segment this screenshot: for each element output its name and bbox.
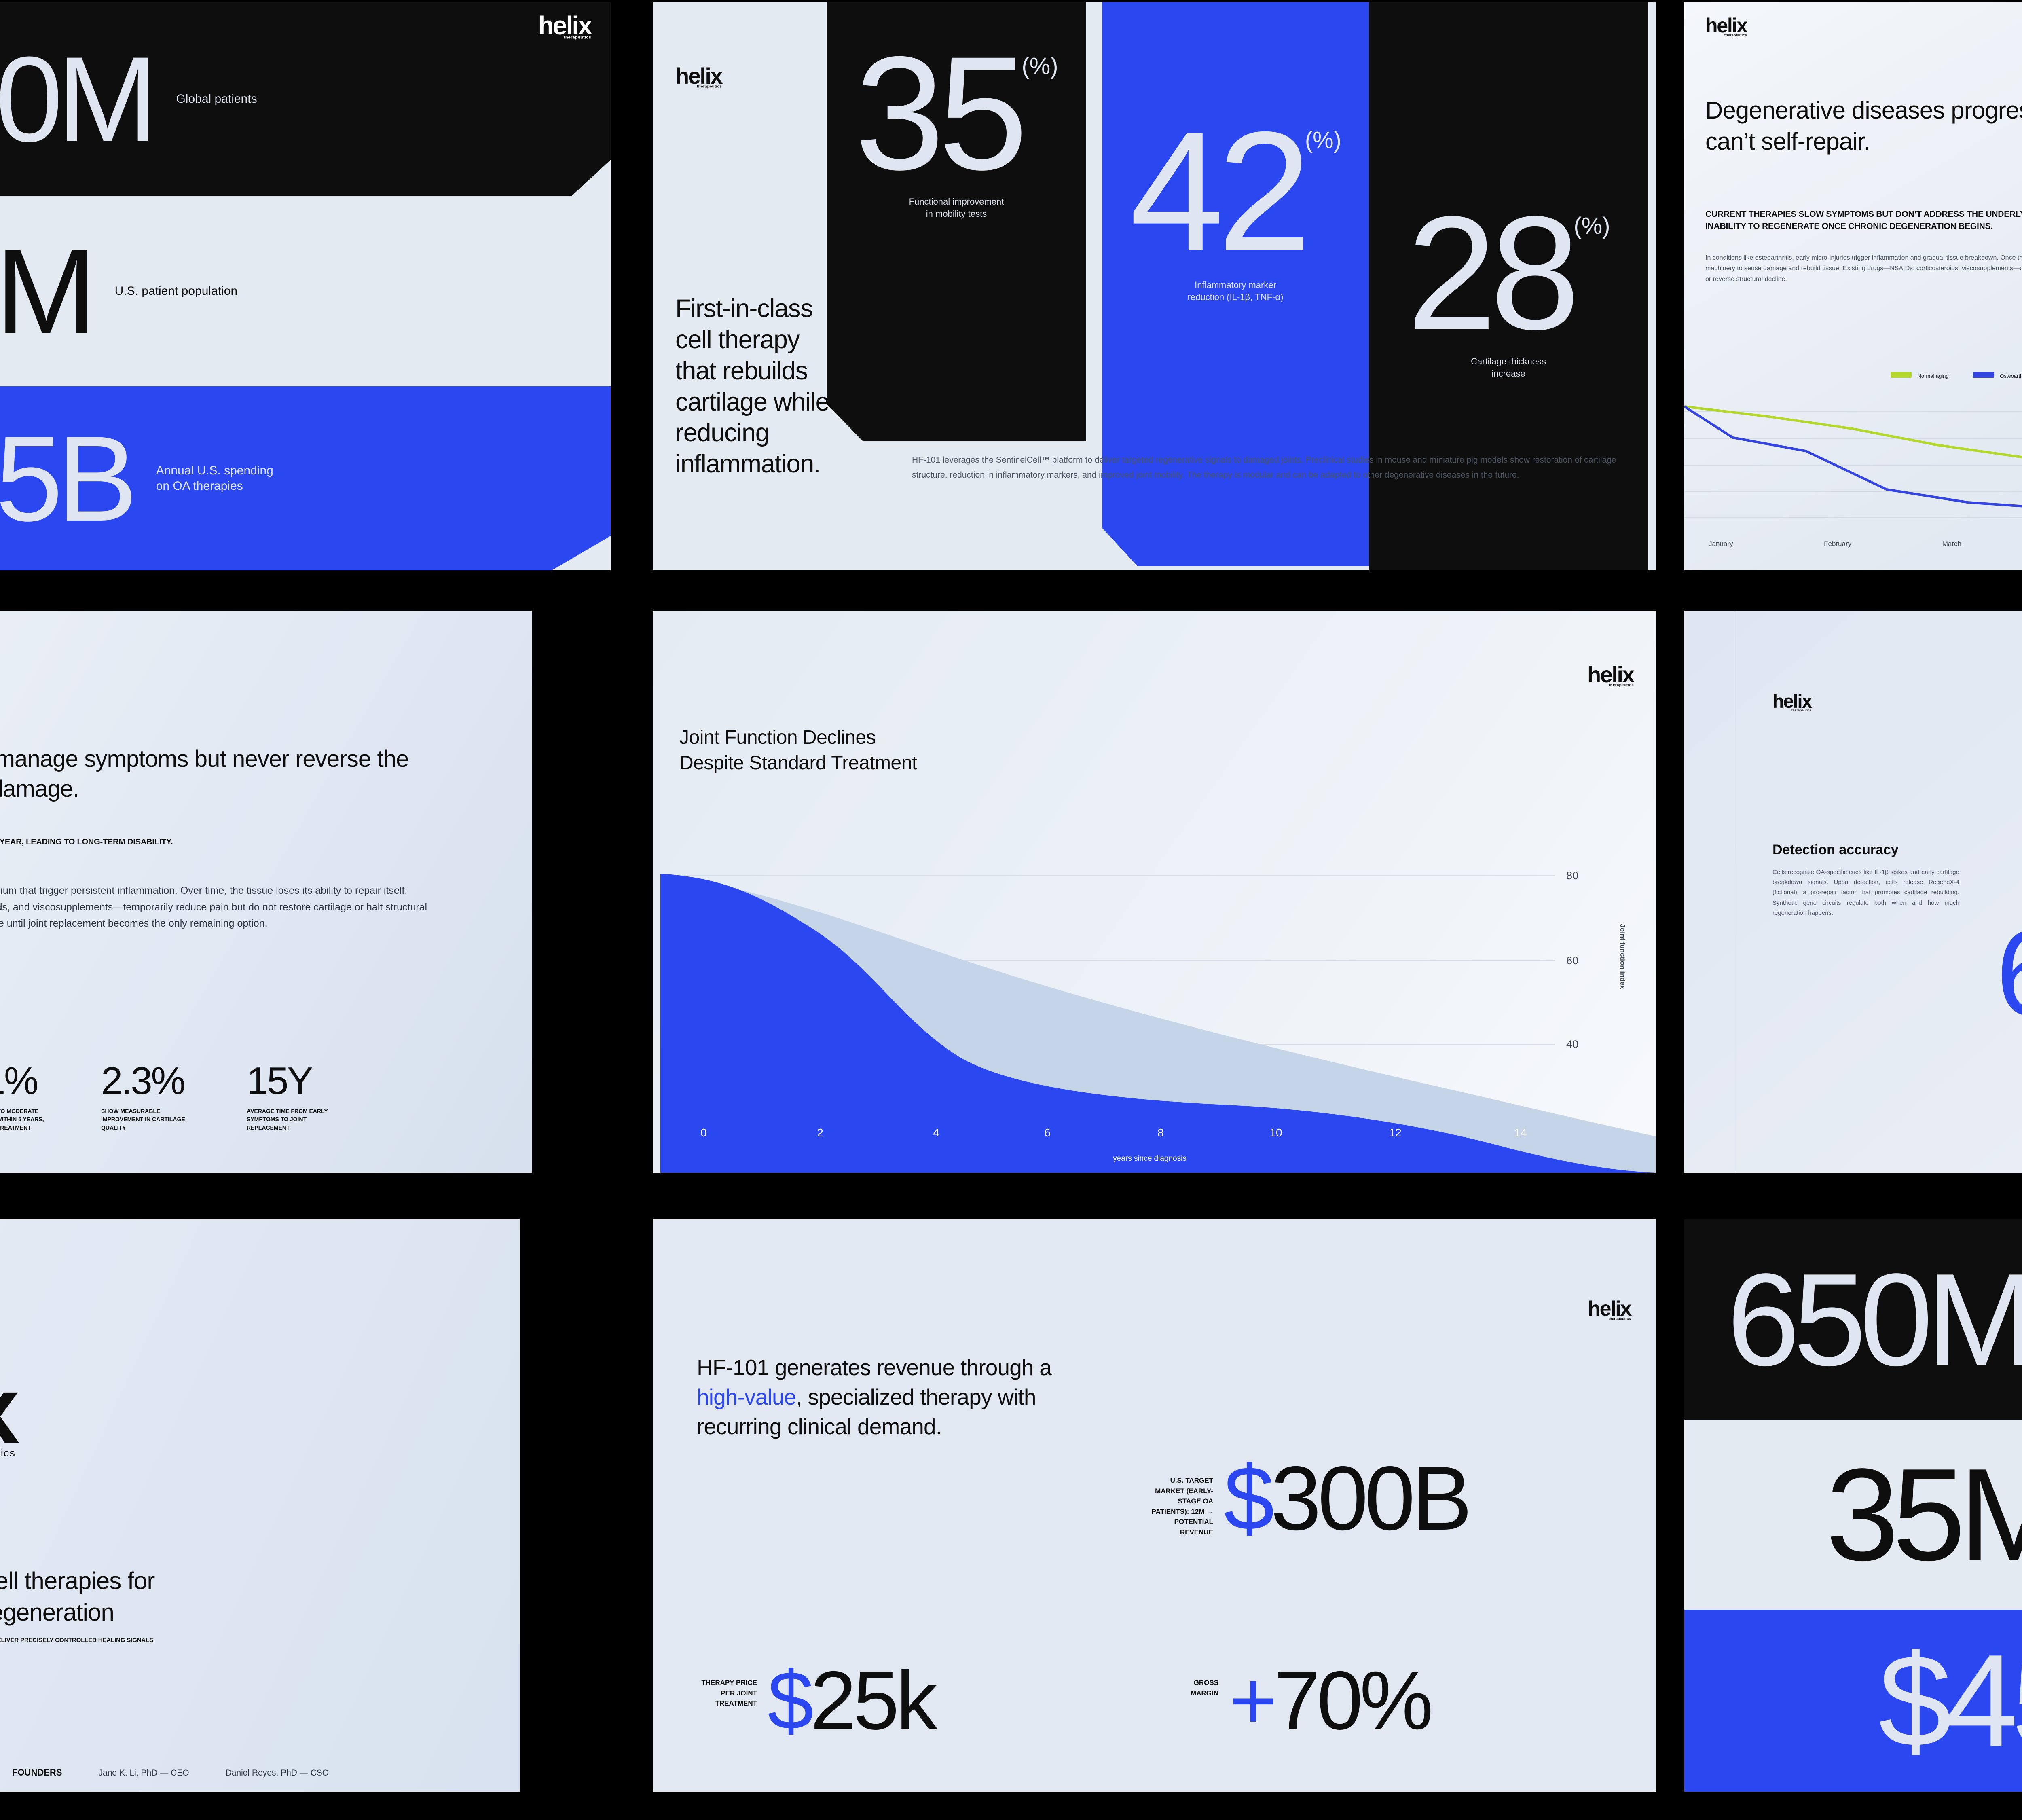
stat-number: 35 bbox=[854, 44, 1022, 182]
slide-kicker: CURRENT THERAPIES SLOW SYMPTOMS BUT DON’… bbox=[1705, 208, 2022, 233]
slide-business-model[interactable]: helix therapeutics HF-101 generates reve… bbox=[653, 1219, 1656, 1792]
stat-number: 28 bbox=[1407, 204, 1574, 342]
svg-text:Joint function index: Joint function index bbox=[1619, 924, 1626, 989]
founders-row: FOUNDERS Jane K. Li, PhD — CEO Daniel Re… bbox=[12, 1767, 329, 1778]
metric-value: 25k bbox=[810, 1662, 934, 1740]
slide-body: HF-101 leverages the SentinelCell™ platf… bbox=[912, 453, 1636, 483]
stat-caption: SHOW MEASURABLE IMPROVEMENT IN CARTILAGE… bbox=[101, 1107, 202, 1132]
metric-label: THERAPY PRICE PER JOINT TREATMENT bbox=[696, 1678, 757, 1709]
headline-accent: high-value bbox=[697, 1384, 796, 1409]
chart-x-axis-labels: January February March April June July bbox=[1709, 540, 2022, 548]
stat-band-caption: U.S. patient population bbox=[115, 284, 238, 299]
stat-number-group: 35 (%) bbox=[827, 44, 1086, 182]
accuracy-value-activated: 62% bbox=[1996, 918, 2022, 1027]
stat-band-dark: 650M Global patients bbox=[0, 2, 611, 196]
stat-band-light: 35M U.S. patient population bbox=[0, 196, 611, 386]
stat-band-value: 35M bbox=[1826, 1439, 2022, 1590]
stat-band-caption: Annual U.S. spending on OA therapies bbox=[156, 463, 273, 493]
helix-logo-hero: helix therapeutics bbox=[0, 1371, 15, 1458]
stat-band-blue: $45B Annual U.S. spending on OA therapie… bbox=[1684, 1610, 2022, 1792]
deck-overview-board: 650M Global patients 35M U.S. patient po… bbox=[0, 0, 2022, 1820]
slide-headline: Degenerative diseases progress because d… bbox=[1705, 95, 2022, 157]
metric-therapy-price: THERAPY PRICE PER JOINT TREATMENT $ 25k bbox=[696, 1662, 934, 1740]
metric-symbol: $ bbox=[1224, 1456, 1271, 1541]
metric-symbol: $ bbox=[768, 1662, 810, 1740]
slide-body: Early micro-injuries in cartilage and sy… bbox=[0, 882, 445, 932]
metric-value: 70% bbox=[1274, 1662, 1430, 1740]
logo-subtext: therapeutics bbox=[0, 1449, 15, 1458]
stat-caption: AVERAGE TIME FROM EARLY SYMPTOMS TO JOIN… bbox=[247, 1107, 340, 1132]
stat-band-value: 35M bbox=[0, 221, 91, 361]
stat-column-28: 28 (%) Cartilage thickness increase bbox=[1369, 2, 1648, 570]
stat-number-group: 42 (%) bbox=[1102, 119, 1369, 264]
headline-part: HF-101 generates revenue through a bbox=[697, 1355, 1051, 1380]
slide-hf101-results[interactable]: helix therapeutics 35 (%) Functional imp… bbox=[653, 2, 1656, 570]
helix-logo: helix therapeutics bbox=[1772, 694, 1812, 712]
slide-degenerative-problem[interactable]: helix therapeutics Degenerative diseases… bbox=[1684, 2, 2022, 570]
headline-line-1: Programmable cell therapies for bbox=[0, 1565, 469, 1597]
disease-progression-chart: 100 80 60 40 20 bbox=[1684, 396, 2022, 530]
slide-body: Cells recognize OA-specific cues like IL… bbox=[1772, 867, 1959, 918]
joint-function-area-chart: 80 60 40 Joint function index 0 2 4 6 8 … bbox=[653, 611, 1656, 1173]
legend-swatch bbox=[1891, 372, 1912, 378]
slide-stat-bands-1[interactable]: 650M Global patients 35M U.S. patient po… bbox=[0, 2, 611, 570]
svg-text:0: 0 bbox=[700, 1126, 707, 1139]
slide-kicker: PATIENTS LOSE JOINT FUNCTION YEAR AFTER … bbox=[0, 836, 421, 848]
stat-band-value: $45B bbox=[0, 408, 132, 548]
founders-label: FOUNDERS bbox=[12, 1767, 62, 1778]
stat-value: 15Y bbox=[247, 1062, 340, 1100]
x-tick: January bbox=[1709, 540, 1733, 548]
logo-wordmark: helix bbox=[1588, 1300, 1631, 1318]
slide-symptoms-only[interactable]: Current therapies manage symptoms but ne… bbox=[0, 611, 532, 1173]
legend-item-normal-aging: Normal aging bbox=[1891, 372, 1949, 380]
stat-band-value: $45B bbox=[1878, 1625, 2022, 1776]
chart-legend: Normal aging Osteoarthritis bbox=[1891, 372, 2022, 380]
stat-unit: (%) bbox=[1305, 127, 1341, 154]
panel-divider-left bbox=[1735, 611, 1735, 1173]
slide-cover[interactable]: helix therapeutics Programmable cell the… bbox=[0, 1219, 520, 1792]
slide-detection-accuracy[interactable]: helix therapeutics Detection accuracy Ce… bbox=[1684, 611, 2022, 1173]
stat-band-value: 650M bbox=[1727, 1244, 2022, 1395]
metric-gross-margin: GROSS MARGIN + 70% bbox=[1171, 1662, 1430, 1740]
legend-item-osteoarthritis: Osteoarthritis bbox=[1973, 372, 2022, 380]
metric-symbol: + bbox=[1229, 1662, 1274, 1740]
svg-text:2: 2 bbox=[817, 1126, 823, 1139]
helix-logo: helix therapeutics bbox=[1588, 1300, 1631, 1321]
stat-band-caption: Global patients bbox=[176, 91, 257, 107]
metric-target-market: U.S. TARGET MARKET (EARLY-STAGE OA PATIE… bbox=[1142, 1456, 1469, 1541]
stat-item: 2.3% SHOW MEASURABLE IMPROVEMENT IN CART… bbox=[101, 1062, 202, 1132]
metric-label: U.S. TARGET MARKET (EARLY-STAGE OA PATIE… bbox=[1142, 1475, 1213, 1537]
svg-text:14: 14 bbox=[1514, 1126, 1527, 1139]
svg-text:60: 60 bbox=[1566, 954, 1578, 967]
logo-wordmark: helix bbox=[1772, 694, 1812, 709]
svg-text:40: 40 bbox=[1566, 1038, 1578, 1050]
stat-value: 2.3% bbox=[101, 1062, 202, 1100]
legend-swatch bbox=[1973, 372, 1994, 378]
logo-subtext: therapeutics bbox=[675, 85, 722, 88]
stat-item: 15Y AVERAGE TIME FROM EARLY SYMPTOMS TO … bbox=[247, 1062, 340, 1132]
helix-logo: helix therapeutics bbox=[1705, 17, 1747, 37]
slide-headline: Current therapies manage symptoms but ne… bbox=[0, 744, 437, 804]
stat-row: 67% OF PATIENTS REPORT NO FUNCTIONAL IMP… bbox=[0, 1062, 384, 1132]
svg-text:12: 12 bbox=[1389, 1126, 1401, 1139]
logo-wordmark: helix bbox=[0, 1371, 15, 1449]
logo-subtext: therapeutics bbox=[538, 36, 591, 39]
slide-stat-bands-2[interactable]: 650M Global patients 35M U.S. patient po… bbox=[1684, 1219, 2022, 1792]
x-tick: February bbox=[1824, 540, 1851, 548]
stat-value: 31% bbox=[0, 1062, 57, 1100]
svg-text:years since diagnosis: years since diagnosis bbox=[1113, 1154, 1187, 1163]
slide-title: Detection accuracy bbox=[1772, 842, 1899, 858]
slide-joint-function-chart[interactable]: helix therapeutics Joint Function Declin… bbox=[653, 611, 1656, 1173]
logo-wordmark: helix bbox=[538, 15, 591, 36]
stat-band-value: 650M bbox=[0, 29, 152, 169]
logo-subtext: therapeutics bbox=[1588, 1318, 1631, 1321]
stat-band-dark: 650M Global patients bbox=[1684, 1219, 2022, 1420]
stat-unit: (%) bbox=[1574, 212, 1610, 239]
svg-text:4: 4 bbox=[933, 1126, 939, 1139]
svg-text:8: 8 bbox=[1157, 1126, 1164, 1139]
logo-wordmark: helix bbox=[675, 67, 722, 85]
helix-logo: helix therapeutics bbox=[675, 67, 722, 89]
metric-value-group: + 70% bbox=[1229, 1662, 1430, 1740]
svg-text:80: 80 bbox=[1566, 870, 1578, 882]
svg-text:10: 10 bbox=[1269, 1126, 1282, 1139]
metric-value-group: $ 300B bbox=[1224, 1456, 1469, 1541]
slide-headline: HF-101 generates revenue through a high-… bbox=[697, 1353, 1081, 1441]
stat-item: 31% PROGRESS TO MODERATE DISABILITY WITH… bbox=[0, 1062, 57, 1132]
slide-kicker: ENGINEERED CELLS THAT DETECT TISSUE DAMA… bbox=[0, 1636, 429, 1645]
stat-caption: PROGRESS TO MODERATE DISABILITY WITHIN 5… bbox=[0, 1107, 57, 1132]
logo-subtext: therapeutics bbox=[1705, 34, 1747, 37]
svg-text:6: 6 bbox=[1044, 1126, 1051, 1139]
stat-band-light: 35M U.S. patient population bbox=[1684, 1420, 2022, 1610]
metric-value-group: $ 25k bbox=[768, 1662, 934, 1740]
stat-band-blue: $45B Annual U.S. spending on OA therapie… bbox=[0, 386, 611, 570]
founder-name: Daniel Reyes, PhD — CSO bbox=[226, 1768, 329, 1778]
slide-headline: Programmable cell therapies for targeted… bbox=[0, 1565, 469, 1628]
stat-unit: (%) bbox=[1022, 53, 1058, 80]
slide-body: In conditions like osteoarthritis, early… bbox=[1705, 253, 2022, 285]
headline-line-2: targeted tissue regeneration bbox=[0, 1597, 469, 1628]
legend-label: Normal aging bbox=[1917, 373, 1948, 379]
slide-headline: First-in-class cell therapy that rebuild… bbox=[675, 293, 845, 480]
helix-logo: helix therapeutics bbox=[538, 15, 591, 40]
metric-value: 300B bbox=[1271, 1456, 1468, 1541]
stat-column-35: 35 (%) Functional improvement in mobilit… bbox=[827, 2, 1086, 441]
stat-number-group: 28 (%) bbox=[1369, 204, 1648, 342]
metric-label: GROSS MARGIN bbox=[1171, 1678, 1218, 1698]
logo-wordmark: helix bbox=[1705, 17, 1747, 34]
legend-label: Osteoarthritis bbox=[2000, 373, 2022, 379]
x-tick: March bbox=[1942, 540, 1961, 548]
logo-subtext: therapeutics bbox=[1772, 709, 1812, 712]
stat-number: 42 bbox=[1129, 119, 1305, 264]
founder-name: Jane K. Li, PhD — CEO bbox=[98, 1768, 189, 1778]
